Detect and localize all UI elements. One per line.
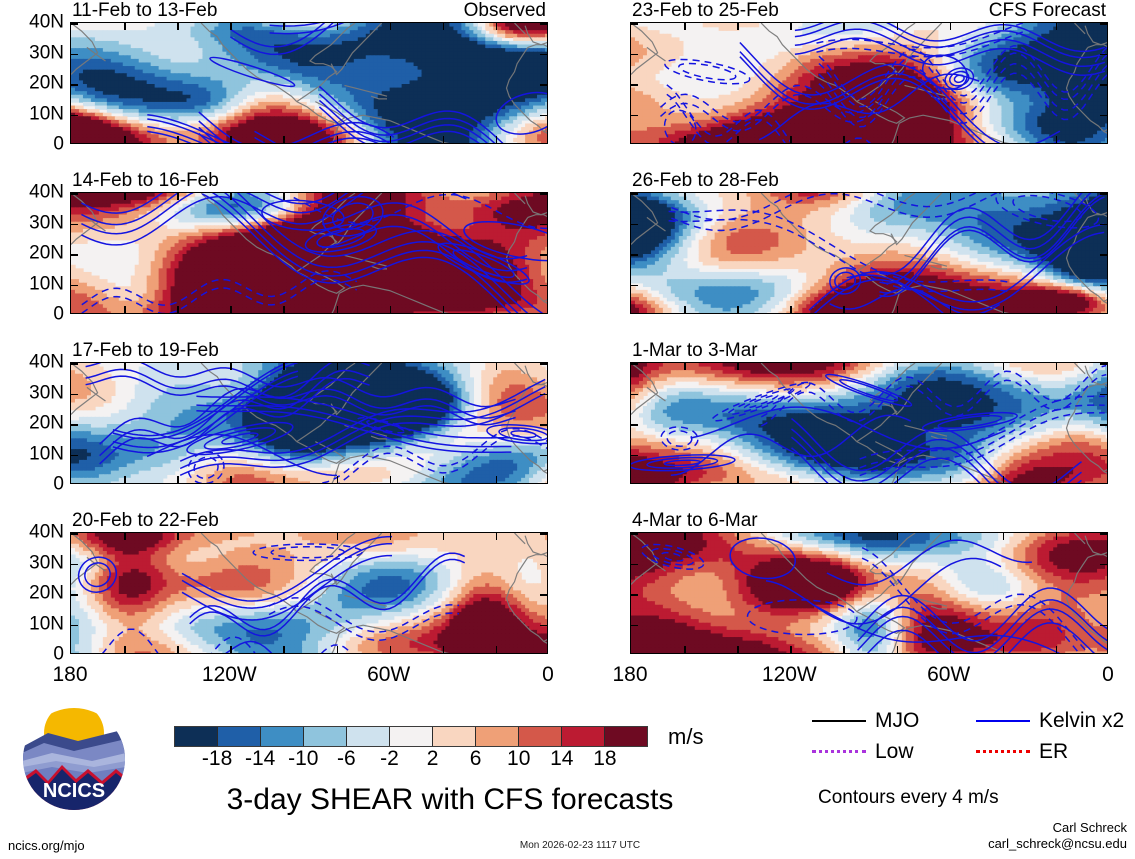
- colorbar-tick-label: 2: [427, 748, 439, 769]
- x-tick: [124, 306, 126, 313]
- timestamp: Mon 2026-02-23 1117 UTC: [400, 840, 760, 851]
- y-tick: [1100, 84, 1107, 86]
- panel-8: 4-Mar to 6-Mar180120W60W0: [630, 532, 1108, 654]
- shear-anomaly-shading: [71, 363, 548, 484]
- y-tick: [631, 533, 638, 535]
- y-tick: [1100, 54, 1107, 56]
- plot-area: [630, 362, 1108, 484]
- y-tick: [631, 224, 638, 226]
- y-tick: [71, 54, 78, 56]
- y-tick: [1100, 224, 1107, 226]
- panel-column-header: CFS Forecast: [989, 1, 1106, 20]
- y-tick: [540, 594, 547, 596]
- x-tick: [897, 363, 899, 370]
- panel-title: 1-Mar to 3-Mar: [632, 341, 758, 360]
- plot-area: [630, 22, 1108, 144]
- y-axis-label: 40N: [29, 353, 64, 372]
- panel-4: 20-Feb to 22-Feb40N30N20N10N0180120W60W0: [70, 532, 548, 654]
- y-tick: [1100, 424, 1107, 426]
- colorbar-tick-label: -2: [380, 748, 399, 769]
- y-tick: [540, 424, 547, 426]
- x-tick: [390, 533, 392, 540]
- x-axis-label: 120W: [762, 664, 817, 685]
- y-tick: [1100, 115, 1107, 117]
- x-tick: [230, 306, 232, 313]
- x-tick: [390, 306, 392, 313]
- x-tick: [496, 363, 498, 370]
- x-tick: [897, 476, 899, 483]
- y-axis-labels: 40N30N20N10N0: [8, 22, 70, 144]
- y-tick: [631, 594, 638, 596]
- y-axis-label: 40N: [29, 523, 64, 542]
- x-tick: [1003, 23, 1005, 30]
- x-tick: [1056, 363, 1058, 370]
- colorbar-tick-label: -18: [202, 748, 232, 769]
- x-tick: [897, 193, 899, 200]
- x-tick: [897, 306, 899, 313]
- shear-anomaly-shading: [631, 363, 1108, 484]
- y-tick: [71, 394, 78, 396]
- y-axis-label: 20N: [29, 584, 64, 603]
- x-tick: [390, 363, 392, 370]
- colorbar-segment-4: [347, 727, 390, 746]
- colorbar-tick-label: -10: [288, 748, 318, 769]
- x-tick: [1003, 306, 1005, 313]
- y-axis-label: 0: [53, 475, 64, 494]
- y-axis-label: 10N: [29, 614, 64, 633]
- y-tick: [71, 625, 78, 627]
- x-tick: [177, 136, 179, 143]
- x-tick: [684, 193, 686, 200]
- colorbar-tick-label: 6: [470, 748, 482, 769]
- author-name: Carl Schreck: [827, 820, 1127, 836]
- y-axis-label: 30N: [29, 43, 64, 62]
- y-tick: [540, 564, 547, 566]
- x-tick: [737, 23, 739, 30]
- colorbar-segment-6: [433, 727, 476, 746]
- shear-anomaly-shading: [631, 533, 1108, 654]
- shear-anomaly-shading: [631, 23, 1108, 144]
- x-tick: [897, 136, 899, 143]
- colorbar: [174, 726, 648, 747]
- y-axis-label: 10N: [29, 444, 64, 463]
- x-tick: [177, 23, 179, 30]
- y-tick: [1100, 625, 1107, 627]
- y-axis-label: 0: [53, 645, 64, 664]
- legend-item-kelvin: Kelvin x2: [976, 710, 1124, 731]
- y-tick: [540, 363, 547, 365]
- x-tick: [897, 23, 899, 30]
- x-tick: [390, 136, 392, 143]
- x-tick: [443, 476, 445, 483]
- x-axis-label: 120W: [202, 664, 257, 685]
- kelvin-line-icon: [976, 720, 1030, 722]
- x-tick: [843, 476, 845, 483]
- x-tick: [283, 646, 285, 653]
- y-tick: [540, 84, 547, 86]
- x-tick: [790, 646, 792, 653]
- panel-1: 11-Feb to 13-FebObserved40N30N20N10N0: [70, 22, 548, 144]
- x-tick: [950, 363, 952, 370]
- x-tick: [790, 306, 792, 313]
- x-tick: [843, 136, 845, 143]
- x-tick: [443, 136, 445, 143]
- x-tick: [443, 533, 445, 540]
- y-tick: [1100, 533, 1107, 535]
- panel-title: 23-Feb to 25-Feb: [632, 1, 779, 20]
- ncics-logo-icon: NCICS: [22, 707, 126, 811]
- x-tick: [790, 476, 792, 483]
- x-tick: [337, 23, 339, 30]
- y-axis-labels: 40N30N20N10N0: [8, 362, 70, 484]
- low-line-icon: [812, 750, 866, 753]
- y-tick: [71, 23, 78, 25]
- x-tick: [1056, 646, 1058, 653]
- y-axis-label: 30N: [29, 553, 64, 572]
- y-tick: [631, 424, 638, 426]
- contour-interval-note: Contours every 4 m/s: [818, 788, 999, 807]
- x-tick: [177, 533, 179, 540]
- x-tick: [230, 136, 232, 143]
- y-tick: [631, 564, 638, 566]
- y-tick: [540, 625, 547, 627]
- colorbar-tick-label: -6: [337, 748, 356, 769]
- x-tick: [1003, 533, 1005, 540]
- x-tick: [1056, 136, 1058, 143]
- x-tick: [950, 23, 952, 30]
- y-tick: [631, 54, 638, 56]
- legend: MJO Kelvin x2 Low ER: [812, 710, 1112, 770]
- x-tick: [283, 306, 285, 313]
- x-tick: [124, 363, 126, 370]
- x-tick: [337, 363, 339, 370]
- y-tick: [1100, 594, 1107, 596]
- x-tick: [124, 23, 126, 30]
- y-tick: [1100, 394, 1107, 396]
- x-tick: [177, 306, 179, 313]
- x-tick: [443, 193, 445, 200]
- plot-area: [70, 192, 548, 314]
- x-axis-label: 180: [612, 664, 647, 685]
- y-tick: [71, 224, 78, 226]
- y-tick: [1100, 193, 1107, 195]
- shear-anomaly-shading: [71, 193, 548, 314]
- y-axis-label: 30N: [29, 213, 64, 232]
- colorbar-segment-7: [476, 727, 519, 746]
- mjo-line-icon: [812, 720, 866, 722]
- plot-area: [630, 532, 1108, 654]
- x-tick: [790, 23, 792, 30]
- x-tick: [897, 533, 899, 540]
- x-tick: [230, 23, 232, 30]
- panel-column-header: Observed: [464, 1, 546, 20]
- x-tick: [1003, 136, 1005, 143]
- y-tick: [1100, 564, 1107, 566]
- x-tick: [337, 136, 339, 143]
- colorbar-segment-1: [218, 727, 261, 746]
- y-axis-labels: 40N30N20N10N0: [8, 532, 70, 654]
- y-tick: [1100, 363, 1107, 365]
- panel-title: 11-Feb to 13-Feb: [72, 1, 217, 20]
- y-tick: [540, 23, 547, 25]
- x-tick: [443, 646, 445, 653]
- figure-root: 11-Feb to 13-FebObserved40N30N20N10N014-…: [0, 0, 1135, 859]
- x-tick: [737, 136, 739, 143]
- x-tick: [790, 363, 792, 370]
- y-tick: [1100, 254, 1107, 256]
- y-axis-label: 20N: [29, 74, 64, 93]
- y-tick: [71, 84, 78, 86]
- legend-item-mjo: MJO: [812, 710, 919, 731]
- y-tick: [631, 455, 638, 457]
- y-tick: [631, 84, 638, 86]
- x-tick: [1056, 476, 1058, 483]
- y-axis-labels: 40N30N20N10N0: [8, 192, 70, 314]
- x-tick: [950, 193, 952, 200]
- x-tick: [337, 193, 339, 200]
- y-tick: [540, 533, 547, 535]
- x-tick: [496, 646, 498, 653]
- y-tick: [71, 115, 78, 117]
- y-axis-label: 40N: [29, 183, 64, 202]
- y-tick: [540, 394, 547, 396]
- x-tick: [737, 476, 739, 483]
- x-axis-label: 0: [542, 664, 554, 685]
- x-tick: [950, 476, 952, 483]
- y-tick: [1100, 23, 1107, 25]
- x-axis-labels: 180120W60W0: [70, 654, 548, 688]
- x-tick: [1056, 533, 1058, 540]
- y-tick: [631, 394, 638, 396]
- y-axis-label: 10N: [29, 274, 64, 293]
- x-tick: [1003, 193, 1005, 200]
- y-tick: [631, 23, 638, 25]
- x-tick: [230, 193, 232, 200]
- y-tick: [631, 115, 638, 117]
- x-tick: [684, 646, 686, 653]
- x-tick: [684, 136, 686, 143]
- x-tick: [124, 193, 126, 200]
- colorbar-unit-label: m/s: [668, 726, 703, 748]
- y-tick: [71, 254, 78, 256]
- x-tick: [950, 533, 952, 540]
- colorbar-segment-3: [304, 727, 347, 746]
- x-tick: [843, 23, 845, 30]
- x-tick: [1056, 306, 1058, 313]
- panel-title: 26-Feb to 28-Feb: [632, 171, 779, 190]
- y-tick: [71, 424, 78, 426]
- shear-anomaly-shading: [71, 23, 548, 144]
- x-tick: [843, 533, 845, 540]
- colorbar-ticks: -18-14-10-6-226101418: [174, 748, 648, 774]
- x-tick: [390, 476, 392, 483]
- colorbar-tick-label: -14: [245, 748, 275, 769]
- y-tick: [631, 625, 638, 627]
- x-tick: [496, 306, 498, 313]
- x-tick: [684, 306, 686, 313]
- y-tick: [71, 564, 78, 566]
- x-tick: [1056, 23, 1058, 30]
- legend-label-kelvin: Kelvin x2: [1039, 710, 1124, 731]
- legend-item-low: Low: [812, 741, 914, 762]
- x-tick: [737, 363, 739, 370]
- colorbar-tick-label: 10: [507, 748, 530, 769]
- x-tick: [737, 193, 739, 200]
- x-tick: [283, 136, 285, 143]
- x-tick: [177, 476, 179, 483]
- x-tick: [337, 306, 339, 313]
- x-tick: [843, 306, 845, 313]
- x-tick: [177, 363, 179, 370]
- legend-item-er: ER: [976, 741, 1068, 762]
- y-tick: [71, 363, 78, 365]
- y-axis-label: 10N: [29, 104, 64, 123]
- y-tick: [631, 363, 638, 365]
- page-title: 3-day SHEAR with CFS forecasts: [160, 784, 740, 816]
- x-tick: [124, 533, 126, 540]
- x-tick: [790, 193, 792, 200]
- x-tick: [230, 646, 232, 653]
- author-email[interactable]: carl_schreck@ncsu.edu: [827, 836, 1127, 852]
- x-tick: [283, 476, 285, 483]
- colorbar-segment-2: [261, 727, 304, 746]
- x-tick: [230, 363, 232, 370]
- legend-label-low: Low: [875, 741, 914, 762]
- legend-label-mjo: MJO: [875, 710, 919, 731]
- x-tick: [790, 533, 792, 540]
- panel-5: 23-Feb to 25-FebCFS Forecast: [630, 22, 1108, 144]
- y-tick: [540, 455, 547, 457]
- y-tick: [631, 254, 638, 256]
- panel-title: 20-Feb to 22-Feb: [72, 511, 219, 530]
- colorbar-segment-9: [562, 727, 605, 746]
- y-tick: [631, 193, 638, 195]
- x-tick: [177, 193, 179, 200]
- x-tick: [950, 646, 952, 653]
- y-axis-label: 20N: [29, 244, 64, 263]
- y-tick: [631, 285, 638, 287]
- x-axis-label: 60W: [927, 664, 970, 685]
- x-tick: [1056, 193, 1058, 200]
- panel-7: 1-Mar to 3-Mar: [630, 362, 1108, 484]
- x-axis-label: 0: [1102, 664, 1114, 685]
- x-tick: [737, 533, 739, 540]
- y-tick: [1100, 285, 1107, 287]
- x-tick: [230, 533, 232, 540]
- x-tick: [496, 136, 498, 143]
- x-tick: [177, 646, 179, 653]
- x-tick: [843, 646, 845, 653]
- x-tick: [443, 23, 445, 30]
- panel-2: 14-Feb to 16-Feb40N30N20N10N0: [70, 192, 548, 314]
- plot-area: [630, 192, 1108, 314]
- er-line-icon: [976, 750, 1030, 753]
- x-tick: [950, 136, 952, 143]
- x-tick: [897, 646, 899, 653]
- x-tick: [337, 646, 339, 653]
- panel-title: 4-Mar to 6-Mar: [632, 511, 758, 530]
- colorbar-tick-label: 14: [550, 748, 573, 769]
- x-tick: [496, 533, 498, 540]
- x-tick: [124, 646, 126, 653]
- x-tick: [790, 136, 792, 143]
- ncics-logo: NCICS: [22, 707, 126, 811]
- x-tick: [1003, 363, 1005, 370]
- y-tick: [71, 455, 78, 457]
- panel-title: 17-Feb to 19-Feb: [72, 341, 219, 360]
- x-tick: [283, 193, 285, 200]
- y-tick: [540, 254, 547, 256]
- author-credit: Carl Schreck carl_schreck@ncsu.edu: [827, 820, 1127, 852]
- x-tick: [390, 23, 392, 30]
- x-tick: [737, 646, 739, 653]
- y-axis-label: 0: [53, 305, 64, 324]
- legend-label-er: ER: [1039, 741, 1068, 762]
- x-tick: [950, 306, 952, 313]
- plot-area: [70, 22, 548, 144]
- x-tick: [684, 476, 686, 483]
- shear-anomaly-shading: [71, 533, 548, 654]
- x-tick: [390, 646, 392, 653]
- x-tick: [843, 193, 845, 200]
- colorbar-segment-10: [605, 727, 647, 746]
- x-tick: [283, 533, 285, 540]
- shear-anomaly-shading: [631, 193, 1108, 314]
- x-tick: [443, 363, 445, 370]
- x-tick: [684, 533, 686, 540]
- x-tick: [1003, 476, 1005, 483]
- x-tick: [737, 306, 739, 313]
- ncics-logo-text: NCICS: [43, 780, 105, 802]
- y-tick: [71, 594, 78, 596]
- x-tick: [283, 363, 285, 370]
- x-tick: [124, 476, 126, 483]
- x-tick: [1003, 646, 1005, 653]
- y-tick: [540, 285, 547, 287]
- site-url[interactable]: ncics.org/mjo: [8, 839, 85, 852]
- x-tick: [496, 23, 498, 30]
- y-tick: [540, 54, 547, 56]
- x-tick: [230, 476, 232, 483]
- y-tick: [71, 285, 78, 287]
- x-tick: [496, 476, 498, 483]
- y-axis-label: 30N: [29, 383, 64, 402]
- y-tick: [71, 533, 78, 535]
- x-tick: [337, 533, 339, 540]
- panel-6: 26-Feb to 28-Feb: [630, 192, 1108, 314]
- x-tick: [843, 363, 845, 370]
- x-tick: [337, 476, 339, 483]
- y-axis-label: 40N: [29, 13, 64, 32]
- x-tick: [496, 193, 498, 200]
- y-axis-label: 20N: [29, 414, 64, 433]
- plot-area: [70, 532, 548, 654]
- x-axis-label: 180: [52, 664, 87, 685]
- plot-area: [70, 362, 548, 484]
- x-tick: [390, 193, 392, 200]
- y-tick: [71, 193, 78, 195]
- x-tick: [684, 363, 686, 370]
- panel-title: 14-Feb to 16-Feb: [72, 171, 219, 190]
- y-axis-label: 0: [53, 135, 64, 154]
- y-tick: [540, 224, 547, 226]
- colorbar-segment-5: [390, 727, 433, 746]
- panel-3: 17-Feb to 19-Feb40N30N20N10N0: [70, 362, 548, 484]
- x-axis-label: 60W: [367, 664, 410, 685]
- x-tick: [283, 23, 285, 30]
- x-axis-labels: 180120W60W0: [630, 654, 1108, 688]
- x-tick: [443, 306, 445, 313]
